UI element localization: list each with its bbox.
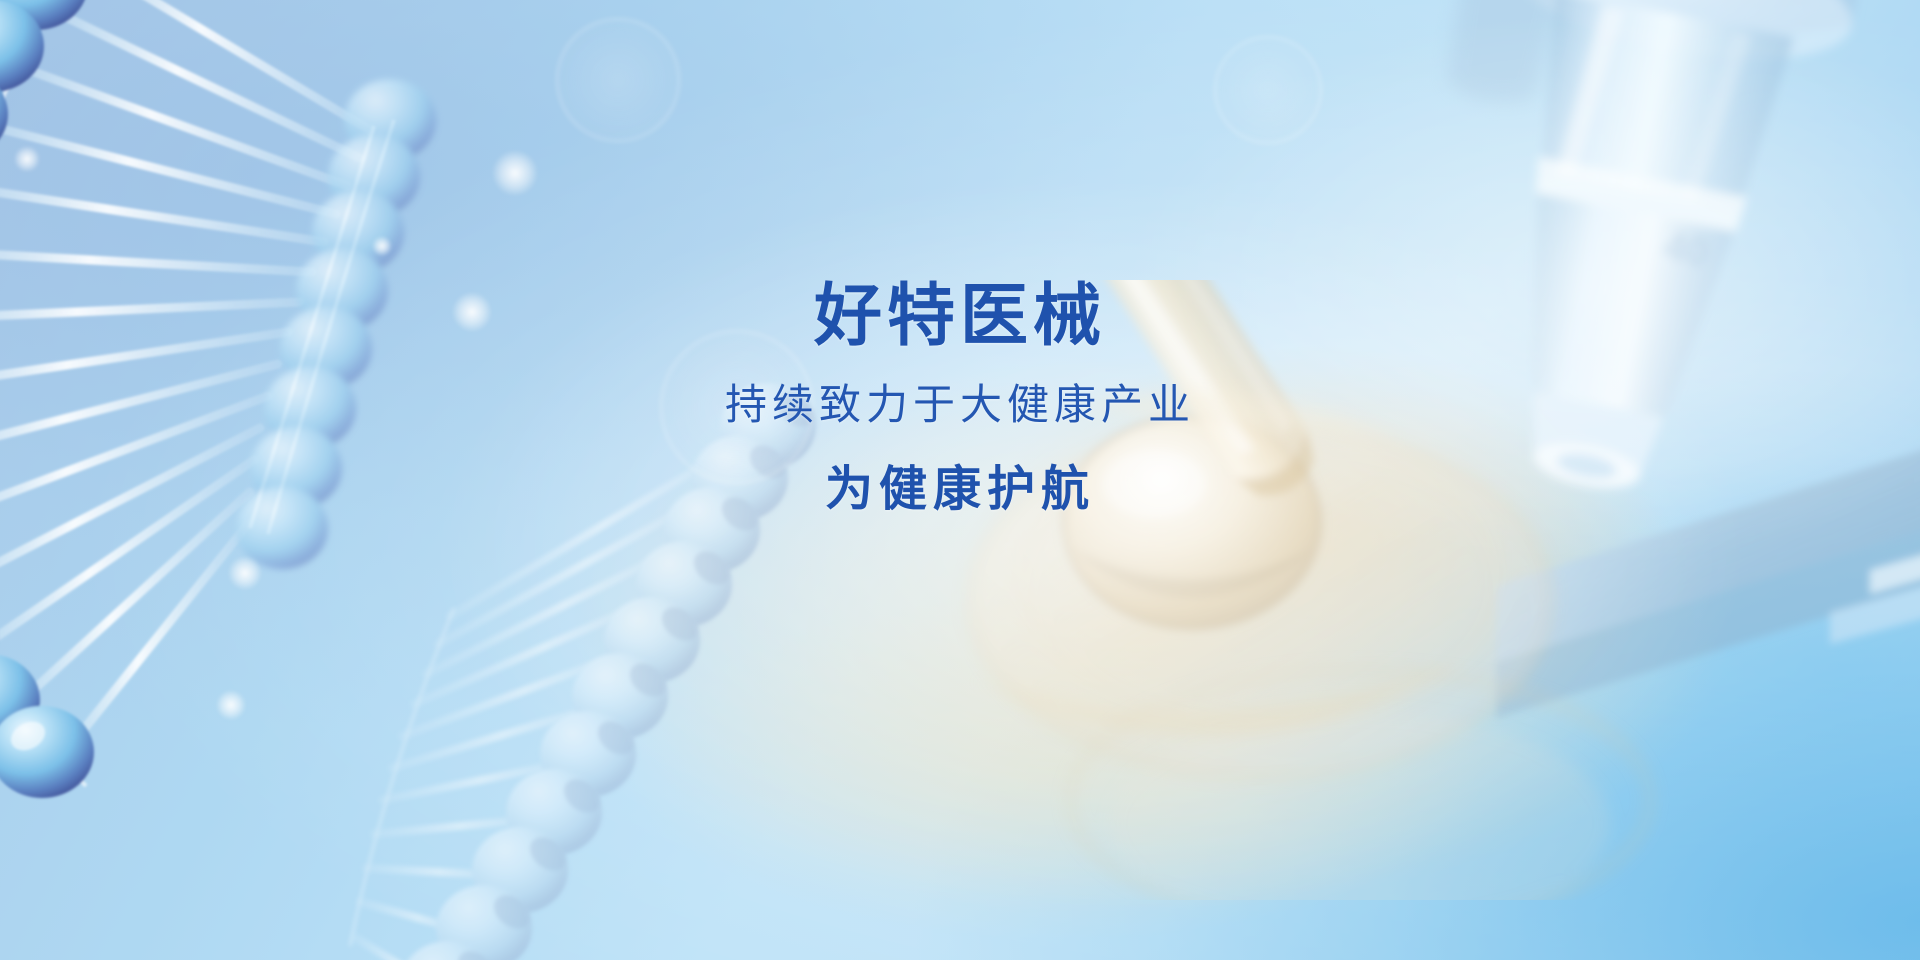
bokeh-ring <box>556 18 680 142</box>
page-subtitle: 持续致力于大健康产业 <box>0 384 1920 426</box>
bokeh-spot <box>216 690 246 720</box>
bokeh-ring <box>1214 36 1322 144</box>
bokeh-spot <box>228 556 262 590</box>
bokeh-spot <box>14 146 40 172</box>
hero-text-block: 好特医械 持续致力于大健康产业 为健康护航 <box>0 282 1920 514</box>
bokeh-spot <box>492 150 538 196</box>
microscope-magnification-label: 40 <box>1660 224 1712 276</box>
page-title: 好特医械 <box>0 282 1920 350</box>
hero-banner: 40 <box>0 0 1920 960</box>
page-slogan: 为健康护航 <box>0 466 1920 514</box>
bokeh-spot <box>372 236 392 256</box>
